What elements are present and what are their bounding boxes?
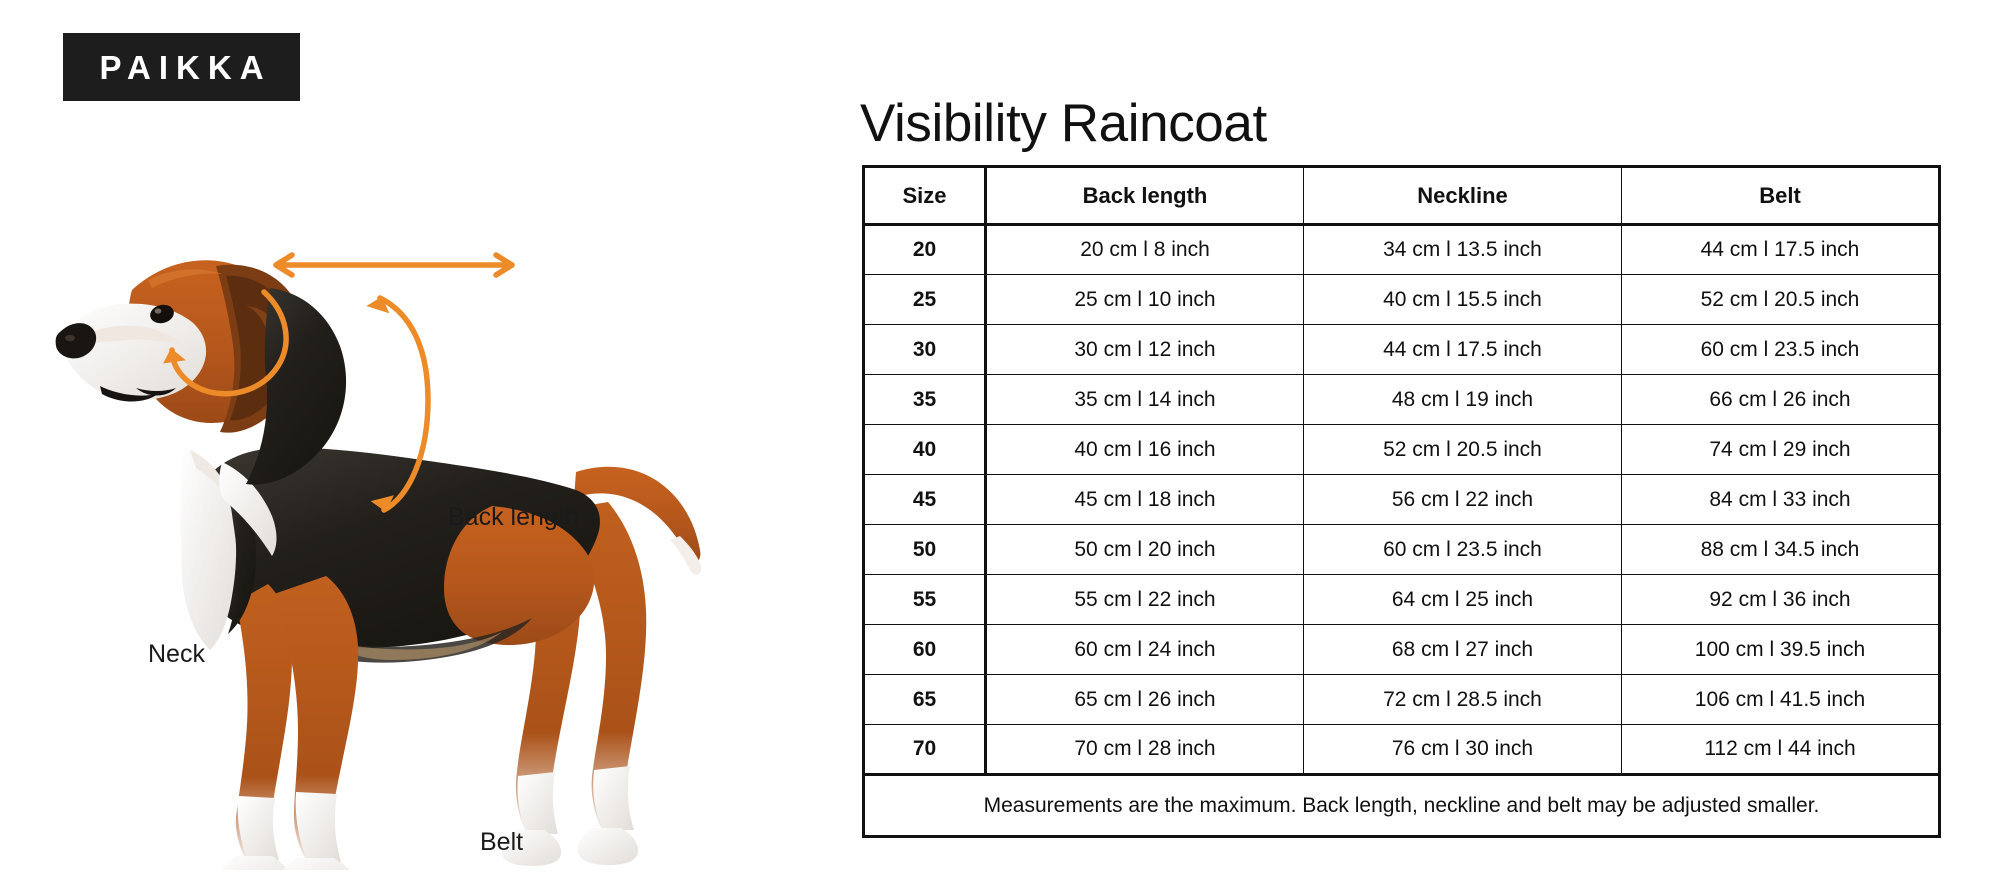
table-row: 6060 cm l 24 inch68 cm l 27 inch100 cm l… [864, 625, 1940, 675]
cell-belt: 100 cm l 39.5 inch [1622, 625, 1940, 675]
table-row: 6565 cm l 26 inch72 cm l 28.5 inch106 cm… [864, 675, 1940, 725]
cell-neckline: 48 cm l 19 inch [1304, 375, 1622, 425]
page-title: Visibility Raincoat [860, 93, 1267, 154]
cell-neckline: 44 cm l 17.5 inch [1304, 325, 1622, 375]
size-table: Size Back length Neckline Belt 2020 cm l… [862, 165, 1941, 838]
size-table-container: Size Back length Neckline Belt 2020 cm l… [862, 165, 1938, 838]
cell-size: 65 [864, 675, 986, 725]
cell-belt: 74 cm l 29 inch [1622, 425, 1940, 475]
table-row: 4040 cm l 16 inch52 cm l 20.5 inch74 cm … [864, 425, 1940, 475]
cell-belt: 112 cm l 44 inch [1622, 725, 1940, 775]
cell-belt: 52 cm l 20.5 inch [1622, 275, 1940, 325]
cell-neckline: 40 cm l 15.5 inch [1304, 275, 1622, 325]
cell-size: 55 [864, 575, 986, 625]
cell-size: 25 [864, 275, 986, 325]
column-header-belt: Belt [1622, 167, 1940, 225]
back-length-label: Back length [448, 503, 579, 532]
cell-back-length: 45 cm l 18 inch [986, 475, 1304, 525]
cell-size: 40 [864, 425, 986, 475]
cell-back-length: 60 cm l 24 inch [986, 625, 1304, 675]
table-row: 3535 cm l 14 inch48 cm l 19 inch66 cm l … [864, 375, 1940, 425]
dog-illustration-graphic [40, 210, 840, 870]
cell-neckline: 76 cm l 30 inch [1304, 725, 1622, 775]
belt-label: Belt [480, 828, 523, 857]
cell-size: 70 [864, 725, 986, 775]
table-row: 2525 cm l 10 inch40 cm l 15.5 inch52 cm … [864, 275, 1940, 325]
cell-neckline: 56 cm l 22 inch [1304, 475, 1622, 525]
size-chart-page: PAIKKA [0, 0, 2000, 896]
table-row: 4545 cm l 18 inch56 cm l 22 inch84 cm l … [864, 475, 1940, 525]
cell-back-length: 25 cm l 10 inch [986, 275, 1304, 325]
table-footer-row: Measurements are the maximum. Back lengt… [864, 775, 1940, 837]
cell-belt: 88 cm l 34.5 inch [1622, 525, 1940, 575]
table-header-row: Size Back length Neckline Belt [864, 167, 1940, 225]
cell-back-length: 50 cm l 20 inch [986, 525, 1304, 575]
cell-neckline: 60 cm l 23.5 inch [1304, 525, 1622, 575]
table-footnote: Measurements are the maximum. Back lengt… [864, 775, 1940, 837]
neck-label: Neck [148, 640, 205, 669]
cell-neckline: 64 cm l 25 inch [1304, 575, 1622, 625]
cell-neckline: 52 cm l 20.5 inch [1304, 425, 1622, 475]
column-header-neckline: Neckline [1304, 167, 1622, 225]
cell-size: 30 [864, 325, 986, 375]
cell-size: 35 [864, 375, 986, 425]
table-row: 2020 cm l 8 inch34 cm l 13.5 inch44 cm l… [864, 225, 1940, 275]
table-row: 3030 cm l 12 inch44 cm l 17.5 inch60 cm … [864, 325, 1940, 375]
brand-logo-text: PAIKKA [91, 51, 271, 84]
cell-belt: 106 cm l 41.5 inch [1622, 675, 1940, 725]
brand-logo: PAIKKA [63, 33, 300, 101]
table-row: 7070 cm l 28 inch76 cm l 30 inch112 cm l… [864, 725, 1940, 775]
cell-back-length: 30 cm l 12 inch [986, 325, 1304, 375]
cell-back-length: 55 cm l 22 inch [986, 575, 1304, 625]
cell-belt: 60 cm l 23.5 inch [1622, 325, 1940, 375]
table-row: 5555 cm l 22 inch64 cm l 25 inch92 cm l … [864, 575, 1940, 625]
cell-size: 45 [864, 475, 986, 525]
cell-neckline: 68 cm l 27 inch [1304, 625, 1622, 675]
cell-size: 20 [864, 225, 986, 275]
cell-belt: 84 cm l 33 inch [1622, 475, 1940, 525]
cell-belt: 44 cm l 17.5 inch [1622, 225, 1940, 275]
column-header-size: Size [864, 167, 986, 225]
column-header-back-length: Back length [986, 167, 1304, 225]
table-row: 5050 cm l 20 inch60 cm l 23.5 inch88 cm … [864, 525, 1940, 575]
cell-back-length: 35 cm l 14 inch [986, 375, 1304, 425]
cell-back-length: 70 cm l 28 inch [986, 725, 1304, 775]
cell-belt: 66 cm l 26 inch [1622, 375, 1940, 425]
cell-back-length: 40 cm l 16 inch [986, 425, 1304, 475]
cell-belt: 92 cm l 36 inch [1622, 575, 1940, 625]
cell-back-length: 65 cm l 26 inch [986, 675, 1304, 725]
cell-back-length: 20 cm l 8 inch [986, 225, 1304, 275]
dog-measurement-illustration: Back length Neck Belt [40, 210, 840, 870]
cell-neckline: 72 cm l 28.5 inch [1304, 675, 1622, 725]
cell-size: 50 [864, 525, 986, 575]
cell-size: 60 [864, 625, 986, 675]
cell-neckline: 34 cm l 13.5 inch [1304, 225, 1622, 275]
